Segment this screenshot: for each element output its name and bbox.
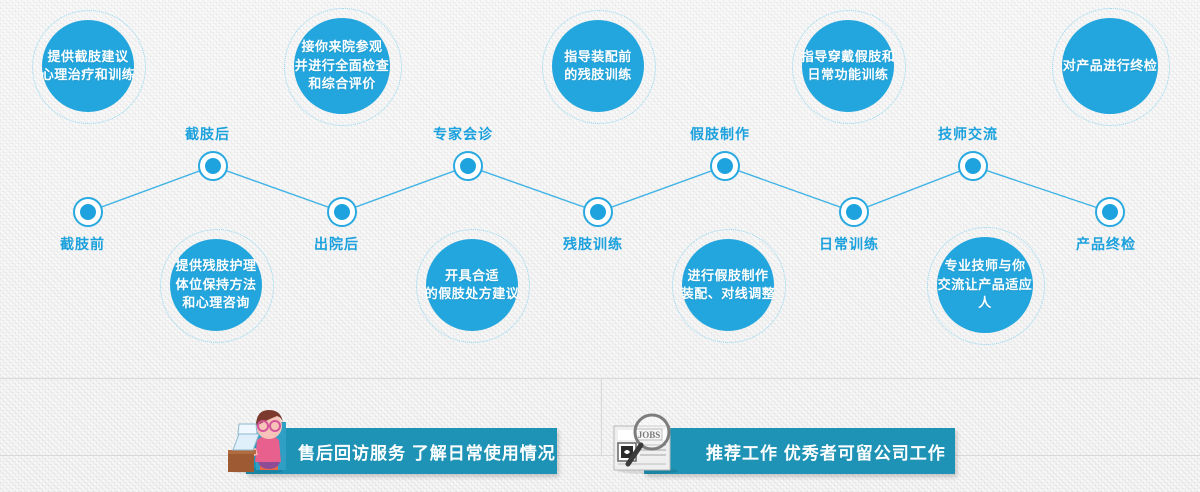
flow-node-label-9: 产品终检	[1076, 234, 1136, 254]
bubble-text-line: 对产品进行终检	[1063, 57, 1158, 75]
bubble-text-line: 交流让产品适应人	[933, 276, 1037, 313]
flow-node-dot-icon	[717, 158, 733, 174]
flow-node-dot-icon	[205, 158, 221, 174]
bubble-text-line: 日常功能训练	[801, 66, 896, 84]
promo-banner-label: 售后回访服务 了解日常使用情况	[298, 439, 556, 464]
bubble-text-line: 开具合适	[425, 267, 520, 285]
flow-node-dot-icon	[334, 204, 350, 220]
bubble-text-line: 装配、对线调整	[681, 285, 776, 303]
info-bubble-9[interactable]: 对产品进行终检	[1052, 8, 1168, 124]
info-bubble-4[interactable]: 开具合适的假肢处方建议	[416, 229, 528, 341]
flow-node-dot-icon	[460, 158, 476, 174]
flow-node-dot-icon	[846, 204, 862, 220]
flow-node-label-5: 残肢训练	[563, 234, 623, 254]
flow-node-label-6: 假肢制作	[690, 124, 750, 144]
woman-at-desk-icon	[226, 408, 288, 492]
bubble-text: 专业技师与你交流让产品适应人	[927, 257, 1043, 312]
info-bubble-3[interactable]: 接你来院参观并进行全面检查和综合评价	[284, 8, 400, 124]
bubble-text-line: 专业技师与你	[933, 257, 1037, 275]
flow-node-5[interactable]	[583, 197, 613, 227]
info-bubble-6[interactable]: 进行假肢制作装配、对线调整	[672, 229, 784, 341]
info-bubble-7[interactable]: 指导穿戴假肢和日常功能训练	[792, 10, 904, 122]
bubble-text: 指导穿戴假肢和日常功能训练	[795, 48, 902, 85]
promo-banner-label: 推荐工作 优秀者可留公司工作	[706, 439, 946, 464]
flow-node-dot-icon	[1102, 204, 1118, 220]
flow-node-dot-icon	[965, 158, 981, 174]
bubble-text-line: 的假肢处方建议	[425, 285, 520, 303]
bubble-text: 对产品进行终检	[1057, 57, 1164, 75]
bubble-text-line: 心理治疗和训练	[41, 66, 136, 84]
info-bubble-5[interactable]: 指导装配前的残肢训练	[542, 10, 654, 122]
flow-node-8[interactable]	[958, 151, 988, 181]
bubble-text-line: 提供残肢护理	[175, 257, 256, 275]
bubble-text-line: 提供截肢建议	[41, 48, 136, 66]
flow-node-3[interactable]	[327, 197, 357, 227]
flow-node-label-8: 技师交流	[938, 124, 998, 144]
bubble-text: 提供截肢建议心理治疗和训练	[35, 48, 142, 85]
flow-node-2[interactable]	[198, 151, 228, 181]
bubble-text: 接你来院参观并进行全面检查和综合评价	[289, 38, 396, 93]
bubble-text-line: 接你来院参观	[295, 38, 390, 56]
flow-node-dot-icon	[590, 204, 606, 220]
info-bubble-1[interactable]: 提供截肢建议心理治疗和训练	[32, 10, 144, 122]
flow-node-dot-icon	[80, 204, 96, 220]
promo-banner-1[interactable]: 售后回访服务 了解日常使用情况	[246, 428, 557, 474]
flow-node-label-1: 截肢前	[60, 234, 105, 254]
promo-banner-2[interactable]: 推荐工作 优秀者可留公司工作	[644, 428, 955, 474]
bubble-text-line: 进行假肢制作	[681, 267, 776, 285]
flow-node-label-4: 专家会诊	[433, 124, 493, 144]
flow-node-label-7: 日常训练	[819, 234, 879, 254]
bubble-text-line: 和心理咨询	[175, 294, 256, 312]
flow-node-label-2: 截肢后	[185, 124, 230, 144]
bubble-text-line: 指导穿戴假肢和	[801, 48, 896, 66]
bubble-text: 指导装配前的残肢训练	[558, 48, 638, 85]
bubble-text-line: 体位保持方法	[175, 276, 256, 294]
flow-node-6[interactable]	[710, 151, 740, 181]
info-bubble-8[interactable]: 专业技师与你交流让产品适应人	[927, 227, 1043, 343]
bubble-text-line: 指导装配前	[564, 48, 632, 66]
flow-node-9[interactable]	[1095, 197, 1125, 227]
section-divider-vertical	[601, 378, 602, 456]
flow-node-7[interactable]	[839, 197, 869, 227]
flow-node-1[interactable]	[73, 197, 103, 227]
bubble-text: 开具合适的假肢处方建议	[419, 267, 526, 304]
bubble-text-line: 和综合评价	[295, 75, 390, 93]
bubble-text: 进行假肢制作装配、对线调整	[675, 267, 782, 304]
section-divider-middle	[0, 455, 1200, 456]
info-bubble-2[interactable]: 提供残肢护理体位保持方法和心理咨询	[160, 229, 272, 341]
jobs-newspaper-magnifier-icon: JOBS	[612, 412, 686, 492]
section-divider-top	[0, 378, 1200, 379]
flow-node-label-3: 出院后	[314, 234, 359, 254]
bubble-text: 提供残肢护理体位保持方法和心理咨询	[169, 257, 262, 312]
bubble-text-line: 并进行全面检查	[295, 57, 390, 75]
bubble-text-line: 的残肢训练	[564, 66, 632, 84]
flow-node-4[interactable]	[453, 151, 483, 181]
